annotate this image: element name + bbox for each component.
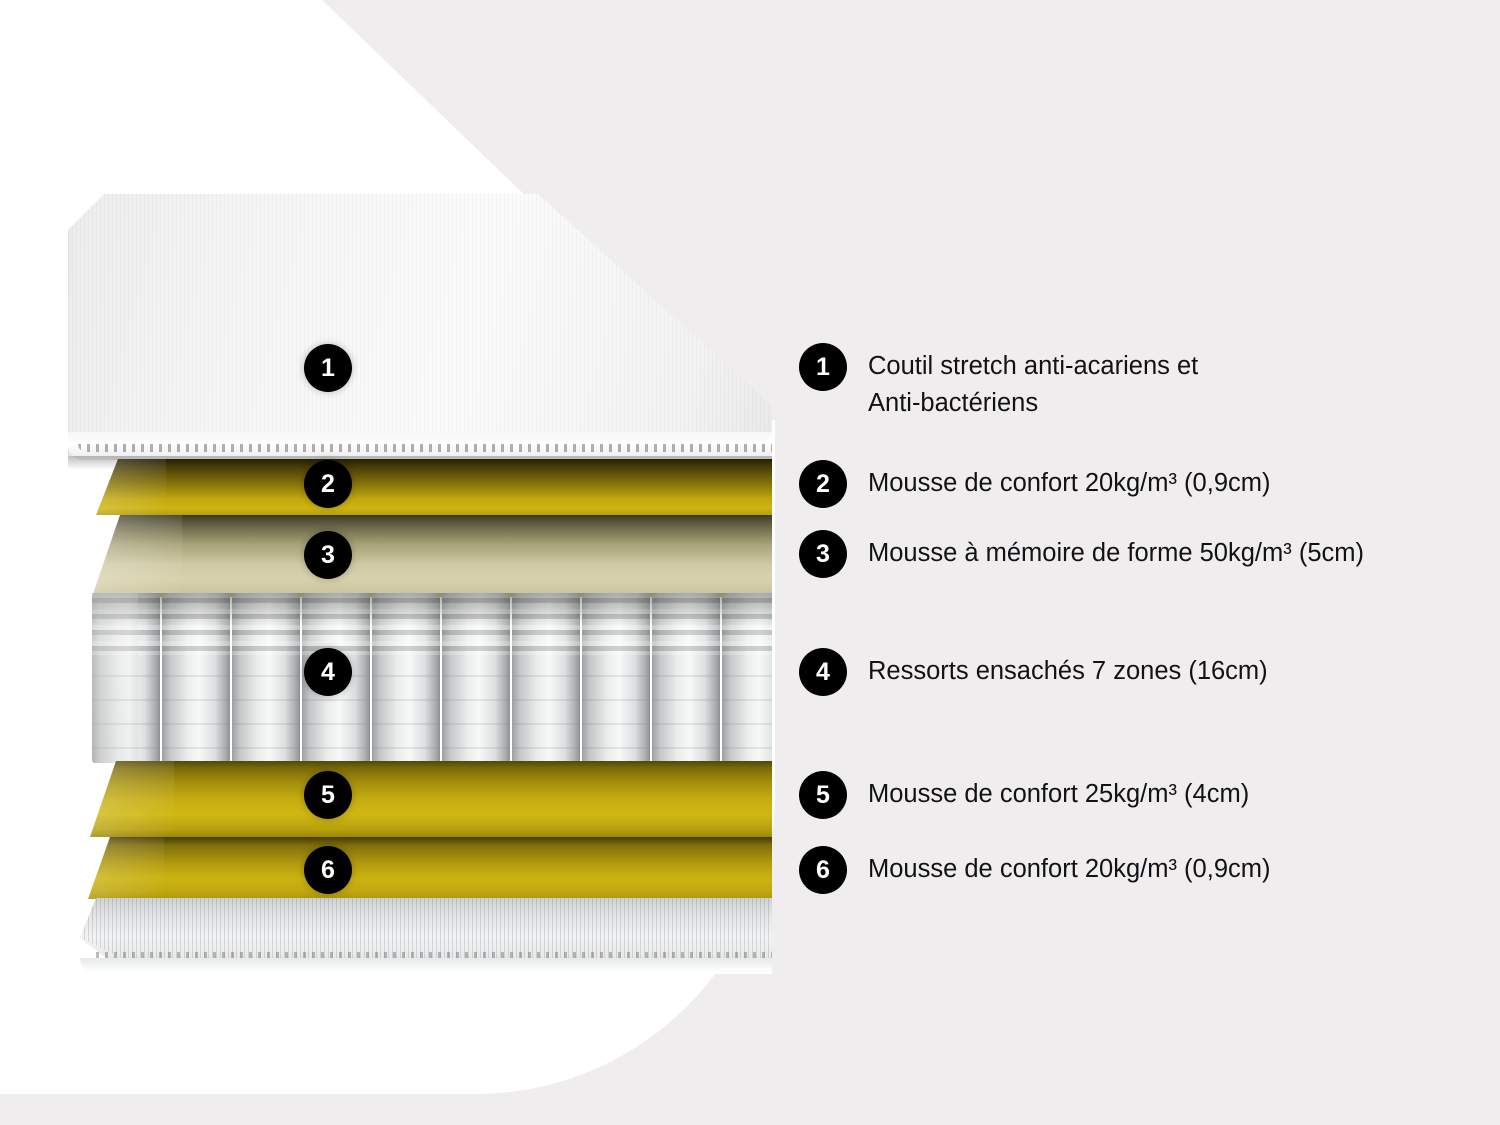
legend-label-3: Mousse à mémoire de forme 50kg/m³ (5cm) (868, 530, 1364, 572)
mattress-illustration: 1 2 3 4 5 6 (0, 0, 772, 1125)
legend-item-2[interactable]: 2 Mousse de confort 20kg/m³ (0,9cm) (799, 460, 1270, 508)
mattress-layer-4-pocket-springs (92, 593, 772, 763)
legend-badge-5-number: 5 (816, 783, 830, 808)
legend-badge-6: 6 (799, 846, 847, 894)
pocket-spring (92, 593, 160, 763)
pocket-spring (652, 593, 720, 763)
pocket-spring-row (92, 593, 772, 763)
legend-badge-4: 4 (799, 648, 847, 696)
pocket-spring (582, 593, 650, 763)
mattress-base-bottom-edge (80, 958, 772, 974)
legend-label-4: Ressorts ensachés 7 zones (16cm) (868, 648, 1268, 690)
legend-badge-2: 2 (799, 460, 847, 508)
mattress-layer-6-edge-highlight (88, 837, 164, 899)
legend-badge-3: 3 (799, 530, 847, 578)
legend-list: 1 Coutil stretch anti-acariens et Anti-b… (799, 0, 1489, 1125)
legend-label-6: Mousse de confort 20kg/m³ (0,9cm) (868, 846, 1270, 888)
mattress-marker-6-label: 6 (321, 858, 335, 883)
mattress-layer-1-stitching (78, 444, 772, 452)
mattress-layer-3-memory-foam (92, 515, 772, 597)
legend-item-1[interactable]: 1 Coutil stretch anti-acariens et Anti-b… (799, 343, 1198, 422)
mattress-marker-2-label: 2 (321, 472, 335, 497)
legend-label-2: Mousse de confort 20kg/m³ (0,9cm) (868, 460, 1270, 502)
mattress-layers-infographic: 1 2 3 4 5 6 1 Coutil stretch anti (0, 0, 1500, 1125)
mattress-layer-3-edge-highlight (92, 515, 182, 597)
legend-badge-2-number: 2 (816, 472, 830, 497)
legend-item-4[interactable]: 4 Ressorts ensachés 7 zones (16cm) (799, 648, 1268, 696)
mattress-layer-6-comfort-foam (88, 837, 772, 899)
mattress-layer-stack: 1 2 3 4 5 6 (0, 0, 772, 1125)
mattress-layer-2-comfort-foam (96, 459, 772, 515)
pocket-spring (162, 593, 230, 763)
mattress-marker-5[interactable]: 5 (304, 771, 352, 819)
pocket-spring (442, 593, 510, 763)
legend-item-3[interactable]: 3 Mousse à mémoire de forme 50kg/m³ (5cm… (799, 530, 1364, 578)
legend-badge-1: 1 (799, 343, 847, 391)
mattress-marker-3-label: 3 (321, 543, 335, 568)
mattress-layer-1-weave-texture (68, 194, 772, 456)
mattress-marker-6[interactable]: 6 (304, 846, 352, 894)
legend-label-1: Coutil stretch anti-acariens et Anti-bac… (868, 343, 1198, 422)
mattress-marker-1[interactable]: 1 (304, 344, 352, 392)
legend-badge-4-number: 4 (816, 660, 830, 685)
legend-item-6[interactable]: 6 Mousse de confort 20kg/m³ (0,9cm) (799, 846, 1270, 894)
mattress-marker-1-label: 1 (321, 356, 335, 381)
legend-item-5[interactable]: 5 Mousse de confort 25kg/m³ (4cm) (799, 771, 1249, 819)
pocket-spring (722, 593, 772, 763)
mattress-layer-5-edge-highlight (90, 761, 174, 837)
mattress-marker-4[interactable]: 4 (304, 648, 352, 696)
legend-badge-5: 5 (799, 771, 847, 819)
pocket-spring (232, 593, 300, 763)
mattress-marker-4-label: 4 (321, 660, 335, 685)
legend-badge-6-number: 6 (816, 858, 830, 883)
mattress-base-texture (80, 898, 772, 958)
mattress-marker-5-label: 5 (321, 783, 335, 808)
pocket-spring (512, 593, 580, 763)
mattress-layer-5-comfort-foam (90, 761, 772, 837)
mattress-marker-3[interactable]: 3 (304, 531, 352, 579)
pocket-spring (372, 593, 440, 763)
legend-badge-1-number: 1 (816, 355, 830, 380)
mattress-marker-2[interactable]: 2 (304, 460, 352, 508)
legend-label-5: Mousse de confort 25kg/m³ (4cm) (868, 771, 1249, 813)
legend-badge-3-number: 3 (816, 542, 830, 567)
